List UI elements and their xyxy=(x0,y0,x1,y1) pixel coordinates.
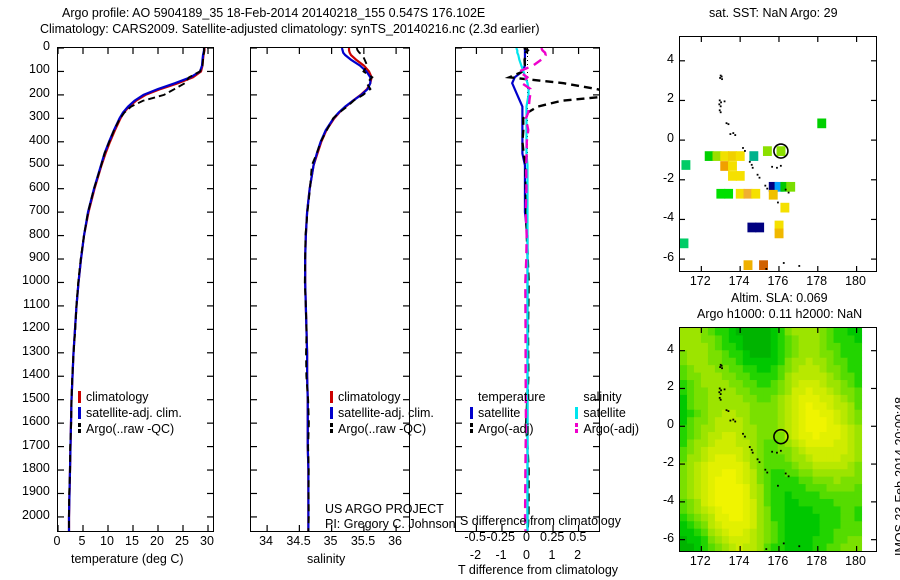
difference-s-ticks: -0.5-0.2500.250.5 xyxy=(455,530,605,546)
axis-tick-label: 178 xyxy=(806,274,827,288)
page-title-line1: Argo profile: AO 5904189_35 18-Feb-2014 … xyxy=(62,6,485,20)
temperature-axis-label: temperature (deg C) xyxy=(71,552,184,566)
sla-map-title-line1: Altim. SLA: 0.069 xyxy=(731,291,828,305)
axis-tick-label: 1600 xyxy=(22,414,50,428)
legend-swatch-t-argo xyxy=(470,423,473,435)
axis-tick-label: 600 xyxy=(29,180,50,194)
axis-tick-label: 200 xyxy=(29,86,50,100)
axis-tick-label: 1400 xyxy=(22,367,50,381)
difference-legend-temperature-col: temperature satellite Argo(-adj) xyxy=(470,390,545,436)
axis-tick-label: 172 xyxy=(690,274,711,288)
axis-tick-label: 180 xyxy=(845,554,866,568)
axis-tick-label: 174 xyxy=(729,554,750,568)
legend-header-temperature: temperature xyxy=(478,390,545,404)
axis-tick-label: -1 xyxy=(495,548,506,562)
axis-tick-label: 1300 xyxy=(22,344,50,358)
axis-tick-label: 1000 xyxy=(22,273,50,287)
axis-tick-label: -6 xyxy=(663,250,674,264)
sla-map-panel xyxy=(679,327,877,552)
axis-tick-label: -2 xyxy=(663,171,674,185)
axis-tick-label: 30 xyxy=(200,534,214,548)
legend-item-climatology: climatology xyxy=(78,390,182,404)
axis-tick-label: -2 xyxy=(663,455,674,469)
axis-tick-label: -4 xyxy=(663,210,674,224)
axis-tick-label: 1500 xyxy=(22,391,50,405)
axis-tick-label: 0 xyxy=(54,534,61,548)
axis-tick-label: 2 xyxy=(667,379,674,393)
axis-tick-label: 2 xyxy=(574,548,581,562)
legend-swatch-argo-raw-sal xyxy=(330,423,333,435)
axis-tick-label: 1800 xyxy=(22,461,50,475)
axis-tick-label: -0.5 xyxy=(464,530,486,544)
difference-t-ticks: -2-1012 xyxy=(455,548,605,564)
legend-label-t-argo: Argo(-adj) xyxy=(478,422,534,436)
salinity-axis-label: salinity xyxy=(307,552,345,566)
salinity-legend: climatology satellite-adj. clim. Argo(..… xyxy=(330,390,434,436)
axis-tick-label: 1700 xyxy=(22,438,50,452)
sst-map-xticks: 172174176178180 xyxy=(679,274,879,292)
axis-tick-label: 500 xyxy=(29,156,50,170)
axis-tick-label: 0.5 xyxy=(569,530,586,544)
axis-tick-label: 2 xyxy=(667,91,674,105)
legend-swatch-satellite-adj xyxy=(78,407,81,419)
legend-item-argo-raw: Argo(..raw -QC) xyxy=(78,422,182,436)
legend-swatch-s-argo xyxy=(575,423,578,435)
axis-tick-label: 178 xyxy=(806,554,827,568)
axis-tick-label: 36 xyxy=(388,534,402,548)
axis-tick-label: 0 xyxy=(43,39,50,53)
salinity-xticks: 3434.53535.536 xyxy=(250,534,415,554)
legend-item-climatology-sal: climatology xyxy=(330,390,434,404)
legend-item-s-satellite: satellite xyxy=(575,406,639,420)
credit-line2: PI: Gregory C. Johnson xyxy=(325,517,456,531)
axis-tick-label: -0.25 xyxy=(486,530,515,544)
axis-tick-label: 34.5 xyxy=(286,534,310,548)
imos-watermark: IMOS 23-Feb-2014 20:00:48 xyxy=(893,397,900,556)
axis-tick-label: 180 xyxy=(845,274,866,288)
axis-tick-label: -6 xyxy=(663,531,674,545)
page-title-line2: Climatology: CARS2009. Satellite-adjuste… xyxy=(40,22,540,36)
legend-label-climatology-sal: climatology xyxy=(338,390,401,404)
axis-tick-label: 172 xyxy=(690,554,711,568)
axis-tick-label: 1900 xyxy=(22,484,50,498)
temperature-legend: climatology satellite-adj. clim. Argo(..… xyxy=(78,390,182,436)
legend-swatch-climatology xyxy=(78,391,81,403)
axis-tick-label: 0 xyxy=(667,417,674,431)
difference-panel xyxy=(455,47,600,532)
difference-legend: temperature satellite Argo(-adj) salinit… xyxy=(470,390,639,436)
axis-tick-label: 1 xyxy=(549,548,556,562)
axis-tick-label: 35.5 xyxy=(351,534,375,548)
temperature-depth-ticks: 0100200300400500600700800900100011001200… xyxy=(0,40,55,540)
temperature-xticks: 051015202530 xyxy=(57,534,217,554)
legend-label-climatology: climatology xyxy=(86,390,149,404)
legend-label-satellite-adj: satellite-adj. clim. xyxy=(86,406,182,420)
axis-tick-label: 0 xyxy=(523,530,530,544)
temperature-panel xyxy=(57,47,214,532)
legend-label-argo-raw-sal: Argo(..raw -QC) xyxy=(338,422,426,436)
difference-t-axis-label: T difference from climatology xyxy=(458,563,618,577)
axis-tick-label: 0.25 xyxy=(540,530,564,544)
legend-swatch-climatology-sal xyxy=(330,391,333,403)
axis-tick-label: 174 xyxy=(729,274,750,288)
axis-tick-label: 4 xyxy=(667,52,674,66)
legend-item-t-argo: Argo(-adj) xyxy=(470,422,545,436)
legend-item-satellite-adj: satellite-adj. clim. xyxy=(78,406,182,420)
legend-header-salinity: salinity xyxy=(583,390,639,404)
legend-label-s-argo: Argo(-adj) xyxy=(583,422,639,436)
sla-map-yticks: 420-2-4-6 xyxy=(650,327,678,557)
axis-tick-label: 300 xyxy=(29,109,50,123)
credit-line1: US ARGO PROJECT xyxy=(325,502,444,516)
sla-map-xticks: 172174176178180 xyxy=(679,554,879,572)
axis-tick-label: 25 xyxy=(175,534,189,548)
legend-swatch-t-satellite xyxy=(470,407,473,419)
axis-tick-label: 1200 xyxy=(22,320,50,334)
axis-tick-label: 15 xyxy=(125,534,139,548)
legend-swatch-argo-raw xyxy=(78,423,81,435)
axis-tick-label: 10 xyxy=(100,534,114,548)
imos-watermark-container: IMOS 23-Feb-2014 20:00:48 xyxy=(893,556,900,570)
axis-tick-label: 900 xyxy=(29,250,50,264)
legend-item-satellite-adj-sal: satellite-adj. clim. xyxy=(330,406,434,420)
axis-tick-label: 800 xyxy=(29,227,50,241)
legend-item-s-argo: Argo(-adj) xyxy=(575,422,639,436)
difference-s-axis-label: S difference from climatology xyxy=(460,514,621,528)
axis-tick-label: 100 xyxy=(29,62,50,76)
axis-tick-label: -2 xyxy=(470,548,481,562)
legend-label-argo-raw: Argo(..raw -QC) xyxy=(86,422,174,436)
legend-item-argo-raw-sal: Argo(..raw -QC) xyxy=(330,422,434,436)
sst-map-panel xyxy=(679,36,877,272)
axis-tick-label: 5 xyxy=(79,534,86,548)
sst-map-yticks: 420-2-4-6 xyxy=(650,36,678,276)
axis-tick-label: 4 xyxy=(667,342,674,356)
legend-label-s-satellite: satellite xyxy=(583,406,625,420)
axis-tick-label: 20 xyxy=(150,534,164,548)
axis-tick-label: 1100 xyxy=(23,297,50,311)
axis-tick-label: 34 xyxy=(259,534,273,548)
sst-map-title: sat. SST: NaN Argo: 29 xyxy=(709,6,838,20)
axis-tick-label: -4 xyxy=(663,493,674,507)
axis-tick-label: 400 xyxy=(29,133,50,147)
axis-tick-label: 176 xyxy=(767,274,788,288)
axis-tick-label: 0 xyxy=(523,548,530,562)
axis-tick-label: 0 xyxy=(667,131,674,145)
axis-tick-label: 176 xyxy=(767,554,788,568)
legend-item-t-satellite: satellite xyxy=(470,406,545,420)
legend-swatch-s-satellite xyxy=(575,407,578,419)
salinity-panel xyxy=(250,47,410,532)
difference-legend-salinity-col: salinity satellite Argo(-adj) xyxy=(575,390,639,436)
legend-label-satellite-adj-sal: satellite-adj. clim. xyxy=(338,406,434,420)
axis-tick-label: 35 xyxy=(324,534,338,548)
legend-swatch-satellite-adj-sal xyxy=(330,407,333,419)
axis-tick-label: 700 xyxy=(29,203,50,217)
axis-tick-label: 2000 xyxy=(22,508,50,522)
legend-label-t-satellite: satellite xyxy=(478,406,520,420)
sla-map-title-line2: Argo h1000: 0.11 h2000: NaN xyxy=(697,307,862,321)
